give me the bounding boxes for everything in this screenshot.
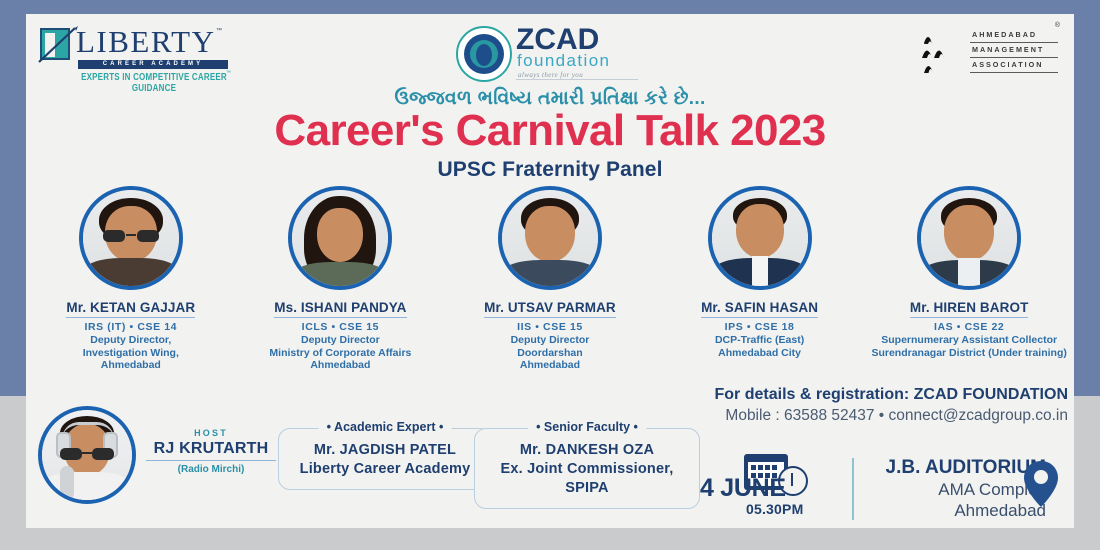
- host-name: RJ KRUTARTH: [146, 440, 276, 461]
- speaker-card: Mr. SAFIN HASAN IPS • CSE 18 DCP-Traffic…: [655, 186, 865, 376]
- zcad-emblem-icon: [456, 26, 512, 82]
- host-text: HOST RJ KRUTARTH (Radio Mirchi): [146, 428, 276, 475]
- pen-icon: [37, 26, 79, 64]
- speaker-cadre: IIS • CSE 15: [517, 321, 583, 333]
- academic-expert-name: Mr. JAGDISH PATEL: [293, 441, 477, 460]
- event-time: 05.30PM: [746, 501, 803, 517]
- host-station: (Radio Mirchi): [146, 464, 276, 475]
- speaker-name: Mr. UTSAV PARMAR: [484, 300, 616, 318]
- speaker-panel: Mr. KETAN GAJJAR IRS (IT) • CSE 14 Deput…: [26, 186, 1074, 376]
- event-venue-block: J.B. AUDITORIUM AMA Complex Ahmedabad: [866, 456, 1046, 521]
- speaker-card: Mr. KETAN GAJJAR IRS (IT) • CSE 14 Deput…: [26, 186, 236, 376]
- avatar: [917, 186, 1021, 290]
- ama-line-3: ASSOCIATION: [972, 60, 1043, 69]
- location-pin-icon: [1022, 460, 1060, 508]
- speaker-role: Deputy Director Doordarshan Ahmedabad: [511, 334, 590, 372]
- zcad-subword: foundation: [517, 52, 610, 70]
- speaker-card: Mr. HIREN BAROT IAS • CSE 22 Supernumera…: [864, 186, 1074, 376]
- header-logo-row: LIBERTY ™ CAREER ACADEMY EXPERTS IN COMP…: [26, 14, 1074, 88]
- liberty-wordmark: LIBERTY: [76, 26, 216, 58]
- zcad-tagline-rule: [516, 79, 638, 80]
- venue-complex: AMA Complex: [866, 479, 1046, 500]
- senior-faculty-title: • Senior Faculty •: [528, 420, 646, 434]
- speaker-role: Supernumerary Assistant Collector Surend…: [871, 334, 1066, 359]
- academic-expert-card: • Academic Expert • Mr. JAGDISH PATEL Li…: [278, 428, 492, 490]
- senior-faculty-org: Ex. Joint Commissioner, SPIPA: [489, 460, 685, 498]
- academic-expert-title: • Academic Expert •: [319, 420, 452, 434]
- speaker-name: Mr. SAFIN HASAN: [701, 300, 818, 318]
- right-accent-band: [1074, 0, 1100, 396]
- top-accent-band: [0, 0, 1100, 14]
- host-avatar: [38, 406, 136, 504]
- avatar: [708, 186, 812, 290]
- liberty-career-academy-logo: LIBERTY ™ CAREER ACADEMY EXPERTS IN COMP…: [40, 26, 230, 82]
- ama-name-lines: AHMEDABAD ® MANAGEMENT ASSOCIATION: [970, 28, 1058, 73]
- ama-line-1: AHMEDABAD: [972, 30, 1037, 39]
- vertical-divider: [852, 458, 854, 520]
- registration-line: For details & registration: ZCAD FOUNDAT…: [698, 386, 1068, 404]
- speaker-cadre: ICLS • CSE 15: [302, 321, 379, 333]
- avatar: [79, 186, 183, 290]
- senior-faculty-card: • Senior Faculty • Mr. DANKESH OZA Ex. J…: [474, 428, 700, 509]
- academic-expert-org: Liberty Career Academy: [293, 460, 477, 479]
- senior-faculty-name: Mr. DANKESH OZA: [489, 441, 685, 460]
- page-subtitle: UPSC Fraternity Panel: [0, 158, 1100, 182]
- speaker-name: Mr. HIREN BAROT: [910, 300, 1029, 318]
- liberty-trademark: ™: [216, 28, 222, 34]
- registered-icon: ®: [1055, 22, 1060, 29]
- speaker-cadre: IRS (IT) • CSE 14: [84, 321, 177, 333]
- speaker-name: Ms. ISHANI PANDYA: [274, 300, 406, 318]
- zcad-foundation-logo: ZCAD foundation always there for you: [450, 22, 650, 84]
- zcad-tagline: always there for you: [518, 71, 583, 79]
- venue-city: Ahmedabad: [866, 500, 1046, 521]
- left-accent-band: [0, 0, 26, 396]
- speaker-name: Mr. KETAN GAJJAR: [66, 300, 195, 318]
- avatar: [498, 186, 602, 290]
- avatar: [288, 186, 392, 290]
- speaker-card: Mr. UTSAV PARMAR IIS • CSE 15 Deputy Dir…: [445, 186, 655, 376]
- event-poster: LIBERTY ™ CAREER ACADEMY EXPERTS IN COMP…: [0, 0, 1100, 550]
- host-block: HOST RJ KRUTARTH (Radio Mirchi): [38, 404, 288, 520]
- page-title: Career's Carnival Talk 2023: [0, 107, 1100, 155]
- arches-icon: [922, 30, 964, 74]
- liberty-subbar: CAREER ACADEMY: [78, 60, 228, 69]
- speaker-cadre: IAS • CSE 22: [934, 321, 1004, 333]
- speaker-role: Deputy Director Ministry of Corporate Af…: [269, 334, 411, 372]
- venue-name: J.B. AUDITORIUM: [866, 456, 1046, 479]
- host-label: HOST: [146, 428, 276, 438]
- ahmedabad-management-association-logo: AHMEDABAD ® MANAGEMENT ASSOCIATION: [922, 24, 1060, 80]
- contact-details[interactable]: Mobile : 63588 52437 • connect@zcadgroup…: [698, 407, 1068, 425]
- bottom-accent-band: [0, 528, 1100, 550]
- contact-block: For details & registration: ZCAD FOUNDAT…: [698, 386, 1068, 425]
- speaker-card: Ms. ISHANI PANDYA ICLS • CSE 15 Deputy D…: [236, 186, 446, 376]
- event-date-block: 4 JUNE 05.30PM: [700, 452, 830, 522]
- speaker-role: DCP-Traffic (East) Ahmedabad City: [715, 334, 804, 359]
- ama-line-2: MANAGEMENT: [972, 45, 1044, 54]
- event-date: 4 JUNE: [700, 474, 786, 503]
- speaker-role: Deputy Director, Investigation Wing, Ahm…: [83, 334, 179, 372]
- liberty-tagline-trademark: ™: [226, 70, 231, 76]
- speaker-cadre: IPS • CSE 18: [725, 321, 795, 333]
